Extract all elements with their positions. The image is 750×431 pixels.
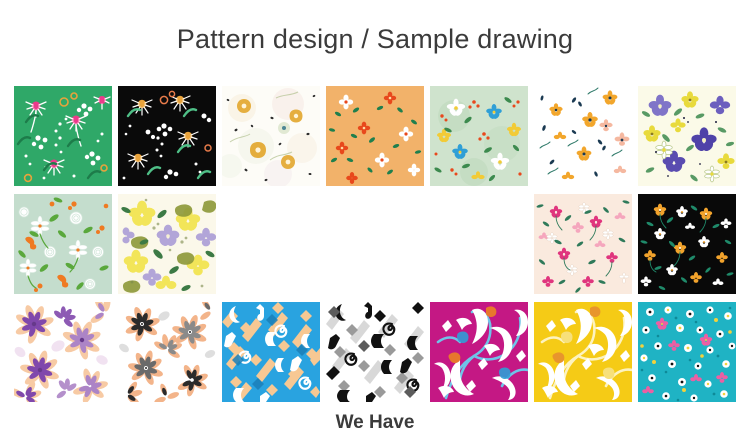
pattern-tile-grayscale-peach-floral[interactable] — [118, 302, 216, 402]
pattern-tile-black-white-ikat-geometric[interactable] — [326, 302, 424, 402]
pattern-tile-yellow-lavender-floral[interactable] — [118, 194, 216, 294]
pattern-tile-yellow-damask-scroll[interactable] — [534, 302, 632, 402]
pattern-tile-cream-pink-ditsy-floral[interactable] — [534, 194, 632, 294]
pattern-tile-watercolor-gold-blossom[interactable] — [222, 86, 320, 186]
pattern-row-top — [0, 86, 750, 186]
promo-line-1: We Have — [336, 413, 415, 431]
pattern-row-middle: We Have 10000+ of Patterns to choose fro… — [0, 194, 750, 294]
pattern-tile-purple-peach-painted-floral[interactable] — [14, 302, 112, 402]
pattern-tile-white-scattered-ditsy[interactable] — [534, 86, 632, 186]
pattern-tile-black-daisy-floral[interactable] — [118, 86, 216, 186]
pattern-gallery-page: Pattern design / Sample drawing — [0, 0, 750, 431]
pattern-tile-green-daisy-floral[interactable] — [14, 86, 112, 186]
page-title: Pattern design / Sample drawing — [0, 24, 750, 55]
pattern-tile-black-orange-ditsy-floral[interactable] — [638, 194, 736, 294]
pattern-tile-turquoise-white-daisy[interactable] — [638, 302, 736, 402]
pattern-tile-mint-rose-daisy-floral[interactable] — [14, 194, 112, 294]
pattern-tile-purple-yellow-watercolor[interactable] — [638, 86, 736, 186]
pattern-row-bottom — [0, 302, 750, 402]
pattern-tile-magenta-damask-scroll[interactable] — [430, 302, 528, 402]
pattern-tile-blue-ikat-geometric[interactable] — [222, 302, 320, 402]
pattern-tile-orange-ditsy-floral[interactable] — [326, 86, 424, 186]
pattern-tile-mint-blue-yellow-floral[interactable] — [430, 86, 528, 186]
